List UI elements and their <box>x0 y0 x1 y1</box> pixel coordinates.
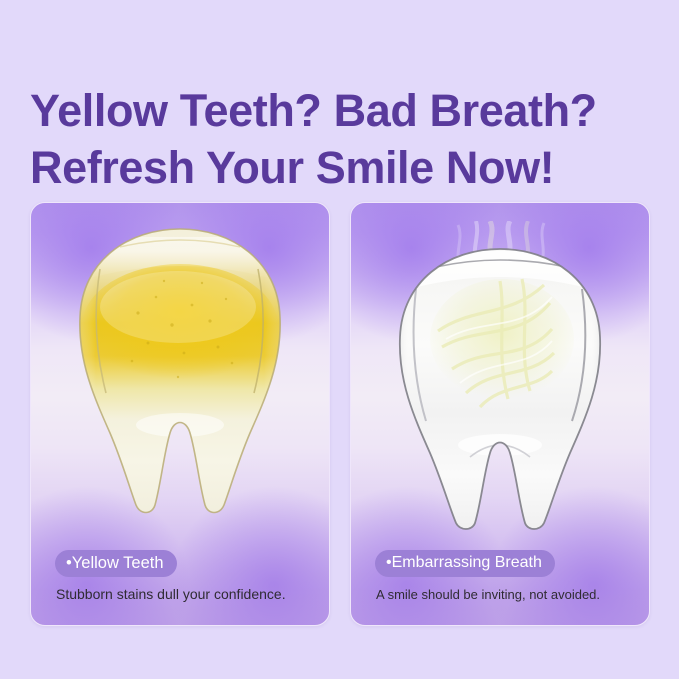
clear-tooth-with-vapor-icon <box>380 221 620 531</box>
clear-tooth-illustration <box>351 211 649 521</box>
yellow-tooth-illustration <box>31 211 329 521</box>
comparison-cards: •Yellow Teeth Stubborn stains dull your … <box>30 202 650 626</box>
yellow-tooth-icon <box>60 221 300 521</box>
card-footer-embarrassing-breath: •Embarrassing Breath A smile should be i… <box>351 550 649 603</box>
card-footer-yellow-teeth: •Yellow Teeth Stubborn stains dull your … <box>31 550 329 603</box>
card-caption-yellow-teeth: Stubborn stains dull your confidence. <box>56 586 329 603</box>
page-title-line-2: Refresh Your Smile Now! <box>30 139 650 196</box>
card-caption-embarrassing-breath: A smile should be inviting, not avoided. <box>376 586 649 603</box>
card-embarrassing-breath[interactable]: •Embarrassing Breath A smile should be i… <box>350 202 650 626</box>
card-yellow-teeth[interactable]: •Yellow Teeth Stubborn stains dull your … <box>30 202 330 626</box>
page-title-line-1: Yellow Teeth? Bad Breath? <box>30 82 650 139</box>
status-badge-embarrassing-breath[interactable]: •Embarrassing Breath <box>375 550 555 577</box>
status-badge-yellow-teeth[interactable]: •Yellow Teeth <box>55 550 177 577</box>
page-title: Yellow Teeth? Bad Breath? Refresh Your S… <box>30 82 650 196</box>
